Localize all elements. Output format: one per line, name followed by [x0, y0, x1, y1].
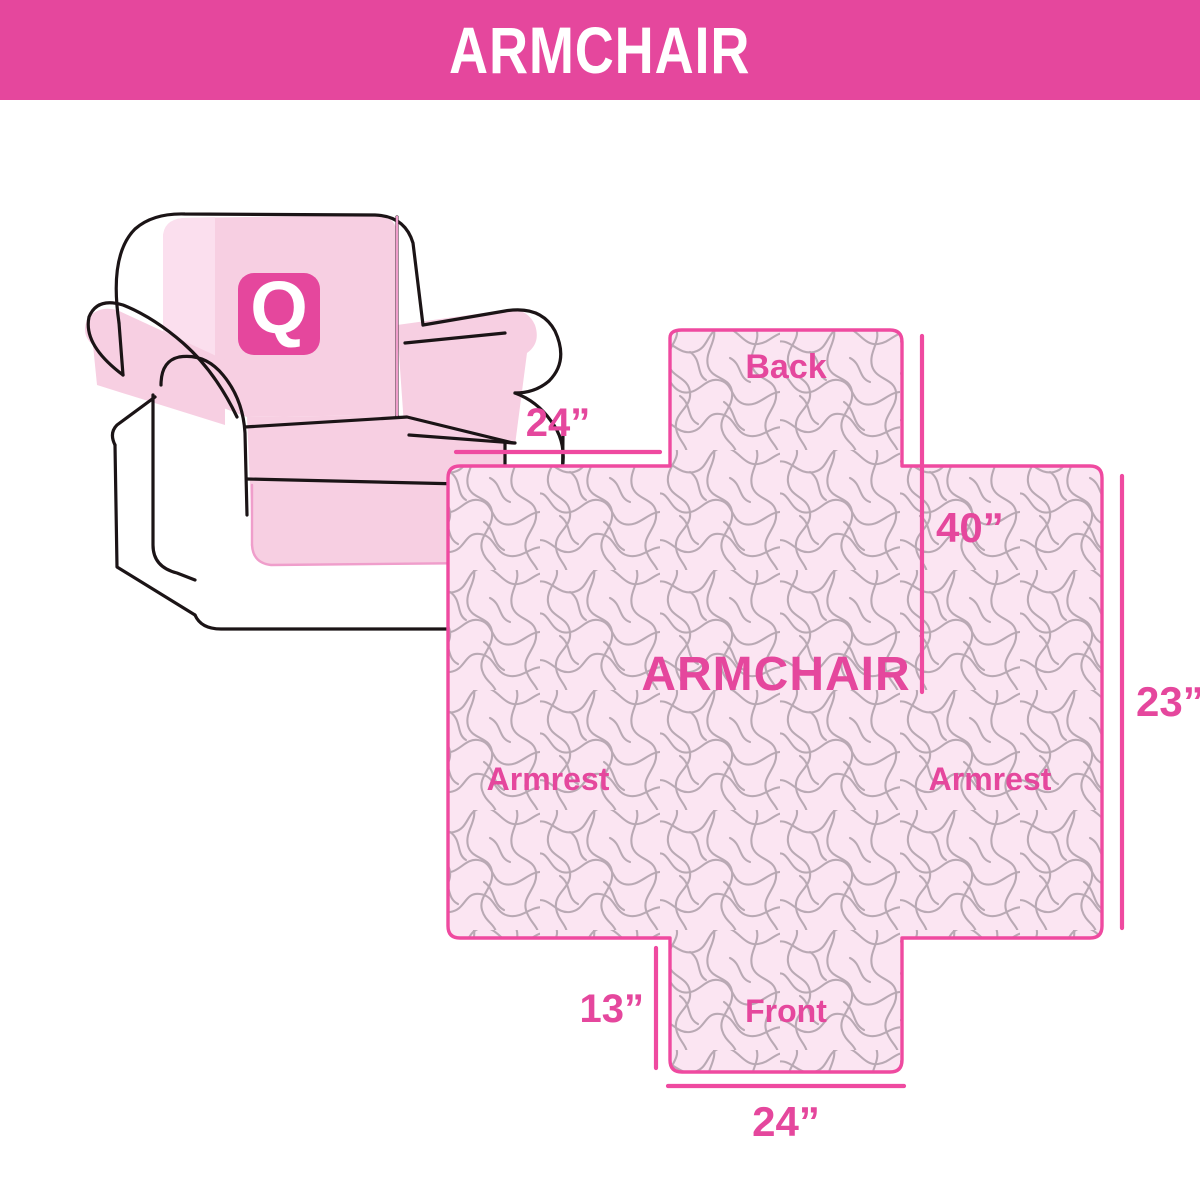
center-label-armchair: ARMCHAIR [641, 648, 910, 701]
chair-left-skirt-outline [112, 397, 155, 445]
slipcover-pattern-diagram: Back ARMCHAIR Armrest Armrest Front 40” [420, 330, 1200, 1200]
dimension-label-front-height: 13” [580, 987, 645, 1031]
q-logo-letter: Q [250, 266, 308, 349]
dimension-label-back-height: 40” [936, 504, 1004, 551]
chair-left-body-side-outline [115, 445, 195, 615]
panel-label-front: Front [745, 993, 827, 1029]
chair-left-front-outline [153, 395, 195, 580]
page-title: ARMCHAIR [449, 17, 750, 83]
dimension-label-front-width: 24” [752, 1098, 820, 1145]
panel-label-armrest-right: Armrest [929, 761, 1052, 797]
panel-label-armrest-left: Armrest [487, 761, 610, 797]
dimension-label-back-width: 24” [526, 401, 591, 445]
dimension-label-body-height: 23” [1136, 678, 1200, 725]
header-banner: ARMCHAIR [0, 0, 1200, 100]
panel-label-back: Back [745, 348, 826, 386]
illustration-canvas: Q [0, 100, 1200, 1200]
brand-badge: Q [238, 266, 320, 355]
